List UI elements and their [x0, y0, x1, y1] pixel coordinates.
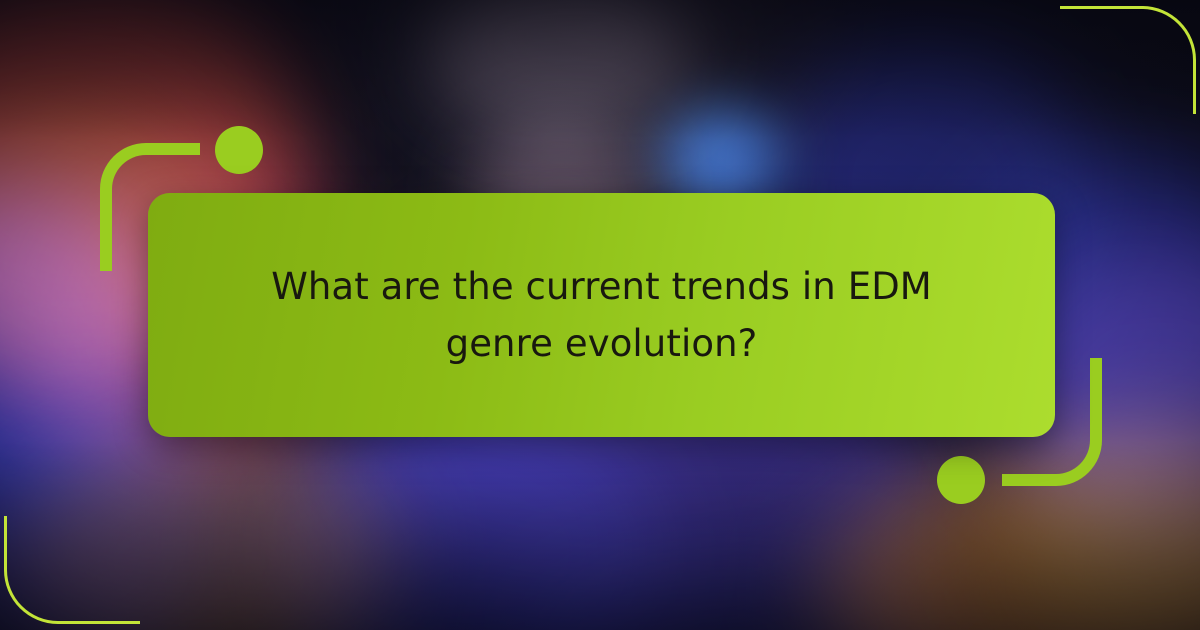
question-card: What are the current trends in EDM genre… — [148, 193, 1055, 437]
social-card-canvas: What are the current trends in EDM genre… — [0, 0, 1200, 630]
corner-frame-top-right-inner — [1060, 6, 1196, 114]
accent-dot-bottom-right — [937, 456, 985, 504]
question-text: What are the current trends in EDM genre… — [218, 258, 985, 373]
corner-frame-bottom-left-inner — [4, 516, 140, 624]
accent-dot-top-left — [215, 126, 263, 174]
